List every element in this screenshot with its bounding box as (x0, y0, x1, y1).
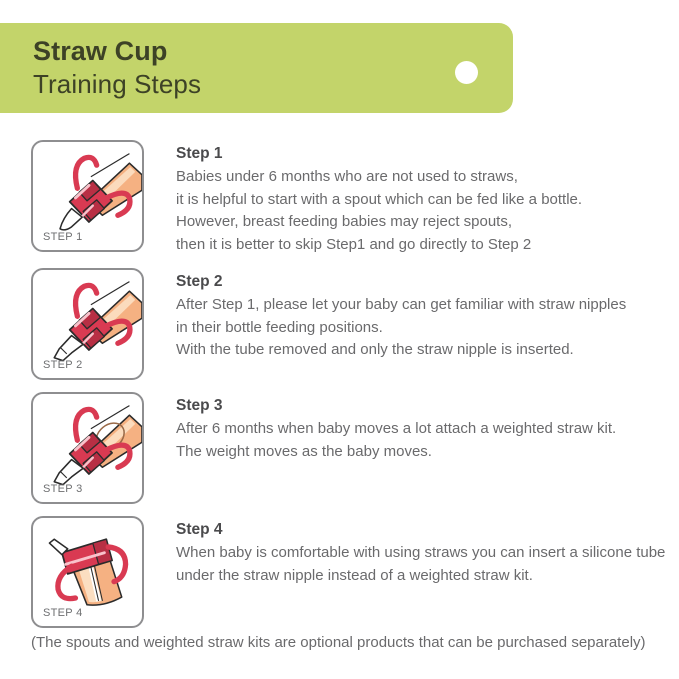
step-line: then it is better to skip Step1 and go d… (176, 234, 679, 257)
step-figure-4: STEP 4 (31, 516, 144, 628)
punch-hole-circle-icon (455, 61, 478, 84)
step-line: After 6 months when baby moves a lot att… (176, 418, 679, 441)
figure-label: STEP 3 (43, 483, 83, 495)
step-figure-1: STEP 1 (31, 140, 144, 252)
figure-label: STEP 1 (43, 231, 83, 243)
step-row: STEP 4 Step 4 When baby is comfortable w… (0, 516, 679, 628)
step-line: However, breast feeding babies may rejec… (176, 211, 679, 234)
header-banner: Straw Cup Training Steps (0, 23, 513, 113)
step-title: Step 1 (176, 143, 679, 165)
step-text-block: Step 3 After 6 months when baby moves a … (144, 392, 679, 463)
step-line: under the straw nipple instead of a weig… (176, 565, 679, 588)
step-line: After Step 1, please let your baby can g… (176, 294, 679, 317)
step-row: STEP 3 Step 3 After 6 months when baby m… (0, 392, 679, 504)
step-figure-2: STEP 2 (31, 268, 144, 380)
step-row: STEP 2 Step 2 After Step 1, please let y… (0, 268, 679, 380)
step-line: in their bottle feeding positions. (176, 317, 679, 340)
step-row: STEP 1 Step 1 Babies under 6 months who … (0, 140, 679, 256)
steps-list: STEP 1 Step 1 Babies under 6 months who … (0, 140, 679, 640)
step-text-block: Step 4 When baby is comfortable with usi… (144, 516, 679, 587)
step-line: With the tube removed and only the straw… (176, 339, 679, 362)
step-title: Step 3 (176, 395, 679, 417)
step-line: The weight moves as the baby moves. (176, 441, 679, 464)
step-title: Step 2 (176, 271, 679, 293)
step-title: Step 4 (176, 519, 679, 541)
figure-label: STEP 2 (43, 359, 83, 371)
footer-note: (The spouts and weighted straw kits are … (31, 632, 646, 654)
page-subtitle: Training Steps (33, 68, 201, 100)
step-line: it is helpful to start with a spout whic… (176, 189, 679, 212)
step-line: Babies under 6 months who are not used t… (176, 166, 679, 189)
header-titles: Straw Cup Training Steps (33, 34, 201, 100)
step-line: When baby is comfortable with using stra… (176, 542, 679, 565)
step-text-block: Step 2 After Step 1, please let your bab… (144, 268, 679, 362)
figure-label: STEP 4 (43, 607, 83, 619)
step-figure-3: STEP 3 (31, 392, 144, 504)
page-title: Straw Cup (33, 34, 201, 68)
step-text-block: Step 1 Babies under 6 months who are not… (144, 140, 679, 256)
